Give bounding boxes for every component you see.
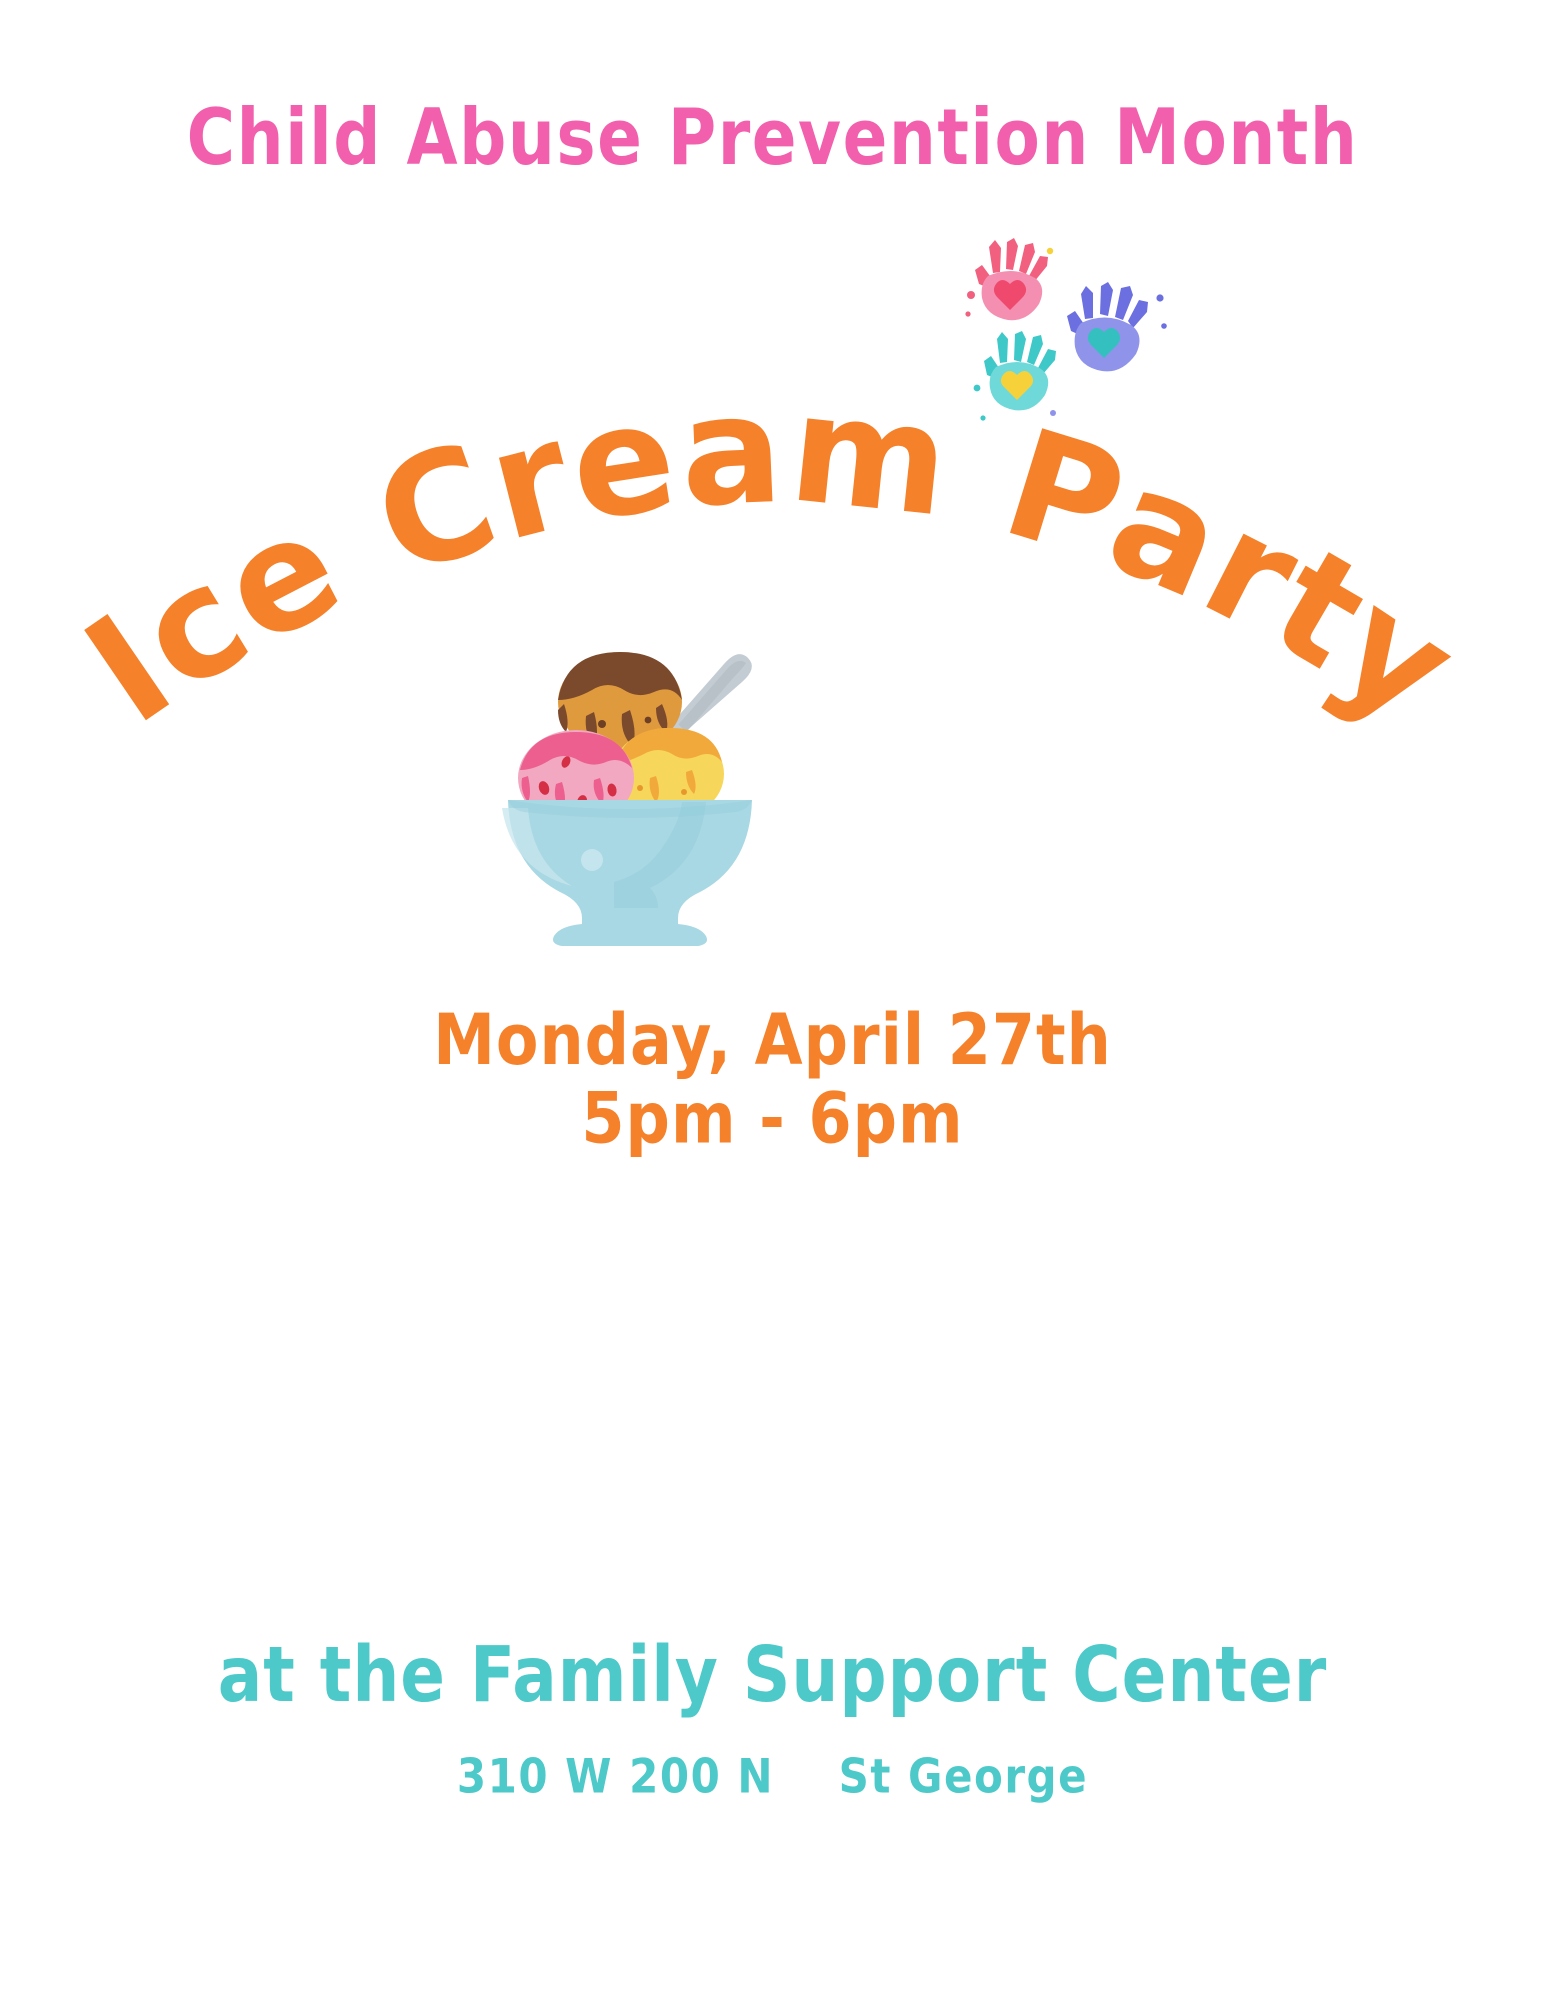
pink-handprint-icon bbox=[965, 238, 1053, 320]
venue-address: 310 W 200 N St George bbox=[0, 1749, 1545, 1804]
bowl bbox=[502, 800, 752, 946]
page-title: Child Abuse Prevention Month bbox=[0, 92, 1545, 183]
venue-name: at the Family Support Center bbox=[0, 1630, 1545, 1719]
event-datetime: Monday, April 27th 5pm - 6pm bbox=[0, 1000, 1545, 1158]
event-location: at the Family Support Center 310 W 200 N… bbox=[0, 1630, 1545, 1798]
event-date: Monday, April 27th bbox=[0, 1000, 1545, 1079]
ice-cream-sundae-illustration bbox=[470, 612, 790, 952]
event-time: 5pm - 6pm bbox=[0, 1079, 1545, 1158]
